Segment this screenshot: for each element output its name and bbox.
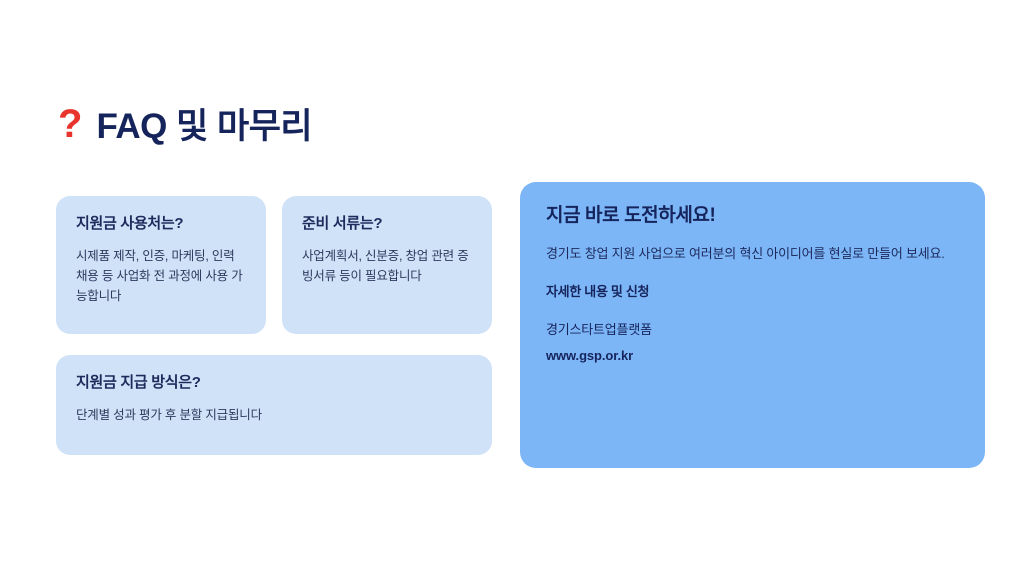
page-header: ? FAQ 및 마무리 bbox=[58, 102, 312, 150]
page-title: FAQ 및 마무리 bbox=[96, 109, 312, 144]
question-mark-icon: ? bbox=[58, 104, 82, 144]
faq-card-row: 지원금 사용처는? 시제품 제작, 인증, 마케팅, 인력 채용 등 사업화 전… bbox=[56, 196, 492, 334]
faq-answer: 시제품 제작, 인증, 마케팅, 인력 채용 등 사업화 전 과정에 사용 가능… bbox=[76, 246, 246, 307]
cta-body-text: 경기도 창업 지원 사업으로 여러분의 혁신 아이디어를 현실로 만들어 보세요… bbox=[546, 243, 959, 265]
faq-card-payment-method[interactable]: 지원금 지급 방식은? 단계별 성과 평가 후 분할 지급됩니다 bbox=[56, 355, 492, 455]
faq-answer: 단계별 성과 평가 후 분할 지급됩니다 bbox=[76, 405, 472, 425]
faq-question: 지원금 사용처는? bbox=[76, 214, 246, 234]
faq-card-required-documents[interactable]: 준비 서류는? 사업계획서, 신분증, 창업 관련 증빙서류 등이 필요합니다 bbox=[282, 196, 492, 334]
cta-subheading: 자세한 내용 및 신청 bbox=[546, 283, 959, 301]
slide-canvas: ? FAQ 및 마무리 지원금 사용처는? 시제품 제작, 인증, 마케팅, 인… bbox=[0, 0, 1024, 576]
cta-platform-name: 경기스타트업플랫폼 bbox=[546, 321, 959, 339]
faq-question: 준비 서류는? bbox=[302, 214, 472, 234]
faq-card-group: 지원금 사용처는? 시제품 제작, 인증, 마케팅, 인력 채용 등 사업화 전… bbox=[56, 196, 492, 455]
cta-title: 지금 바로 도전하세요! bbox=[546, 204, 959, 229]
cta-panel: 지금 바로 도전하세요! 경기도 창업 지원 사업으로 여러분의 혁신 아이디어… bbox=[520, 182, 985, 468]
faq-card-funding-usage[interactable]: 지원금 사용처는? 시제품 제작, 인증, 마케팅, 인력 채용 등 사업화 전… bbox=[56, 196, 266, 334]
faq-question: 지원금 지급 방식은? bbox=[76, 373, 472, 393]
cta-website-link[interactable]: www.gsp.or.kr bbox=[546, 347, 959, 365]
faq-answer: 사업계획서, 신분증, 창업 관련 증빙서류 등이 필요합니다 bbox=[302, 246, 472, 287]
